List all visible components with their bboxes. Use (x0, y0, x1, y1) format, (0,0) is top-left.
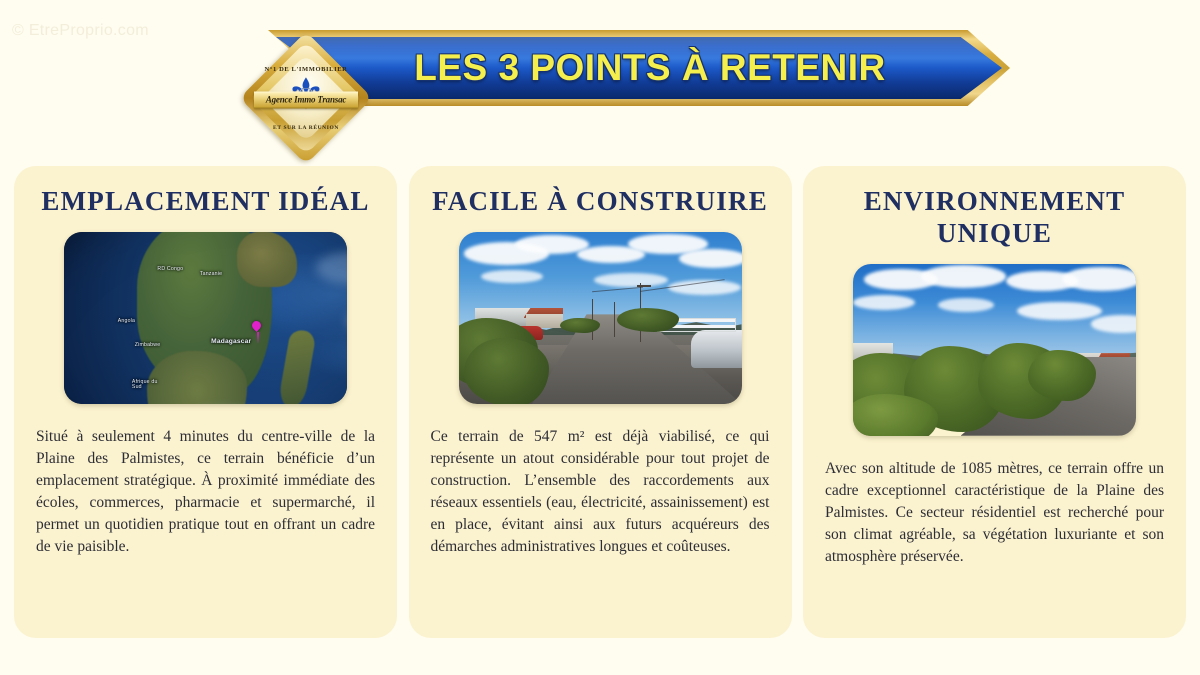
header-banner: LES 3 POINTS À RETENIR N°1 DE L'IMMOBILI… (0, 26, 1200, 110)
card-environnement-unique: ENVIRONNEMENT UNIQUE (803, 166, 1186, 638)
street-photo-image (459, 232, 742, 404)
card-facile-a-construire: FACILE À CONSTRUIRE (409, 166, 792, 638)
globe-terminator-shading (64, 232, 347, 404)
page-title: LES 3 POINTS À RETENIR (320, 37, 980, 99)
card-body-text: Avec son altitude de 1085 mètres, ce ter… (825, 458, 1164, 568)
cloud (938, 298, 995, 312)
agency-logo-badge: N°1 DE L'IMMOBILIER ⚜ ET SUR LA RÉUNION … (252, 44, 360, 152)
map-label-rd-congo: RD Congo (157, 266, 183, 272)
card-title: ENVIRONNEMENT UNIQUE (825, 186, 1164, 250)
photo-scene (853, 264, 1136, 436)
cloud (921, 265, 1006, 287)
satellite-map-image: RD Congo Tanzanie Angola Zimbabwe Madaga… (64, 232, 347, 404)
land-plot-photo-image (853, 264, 1136, 436)
card-title: FACILE À CONSTRUIRE (432, 186, 768, 218)
photo-scene (459, 232, 742, 404)
map-label-madagascar: Madagascar (211, 338, 251, 345)
roadside-bush (617, 308, 679, 332)
cloud (594, 273, 668, 287)
cloud (853, 295, 915, 310)
card-body-text: Situé à seulement 4 minutes du centre-vi… (36, 426, 375, 558)
map-label-zimbabwe: Zimbabwe (135, 342, 161, 348)
card-body-text: Ce terrain de 547 m² est déjà viabilisé,… (431, 426, 770, 558)
utility-pole (614, 302, 615, 336)
map-label-afrique-du-sud: Afrique du Sud (132, 380, 158, 391)
map-label-tanzanie: Tanzanie (200, 271, 222, 277)
map-space-background: RD Congo Tanzanie Angola Zimbabwe Madaga… (64, 232, 347, 404)
earth-globe (64, 232, 347, 404)
cloud (1062, 267, 1136, 291)
map-label-angola: Angola (118, 318, 135, 324)
roadside-bush (464, 338, 549, 403)
card-title: EMPLACEMENT IDÉAL (41, 186, 369, 218)
vegetation-mass (1028, 350, 1096, 402)
silver-car (691, 330, 742, 368)
map-pin-tail (257, 332, 259, 344)
cloud (1091, 315, 1136, 332)
card-emplacement-ideal: EMPLACEMENT IDÉAL RD Congo Tanzan (14, 166, 397, 638)
cloud (679, 249, 741, 268)
points-card-row: EMPLACEMENT IDÉAL RD Congo Tanzan (0, 166, 1200, 638)
